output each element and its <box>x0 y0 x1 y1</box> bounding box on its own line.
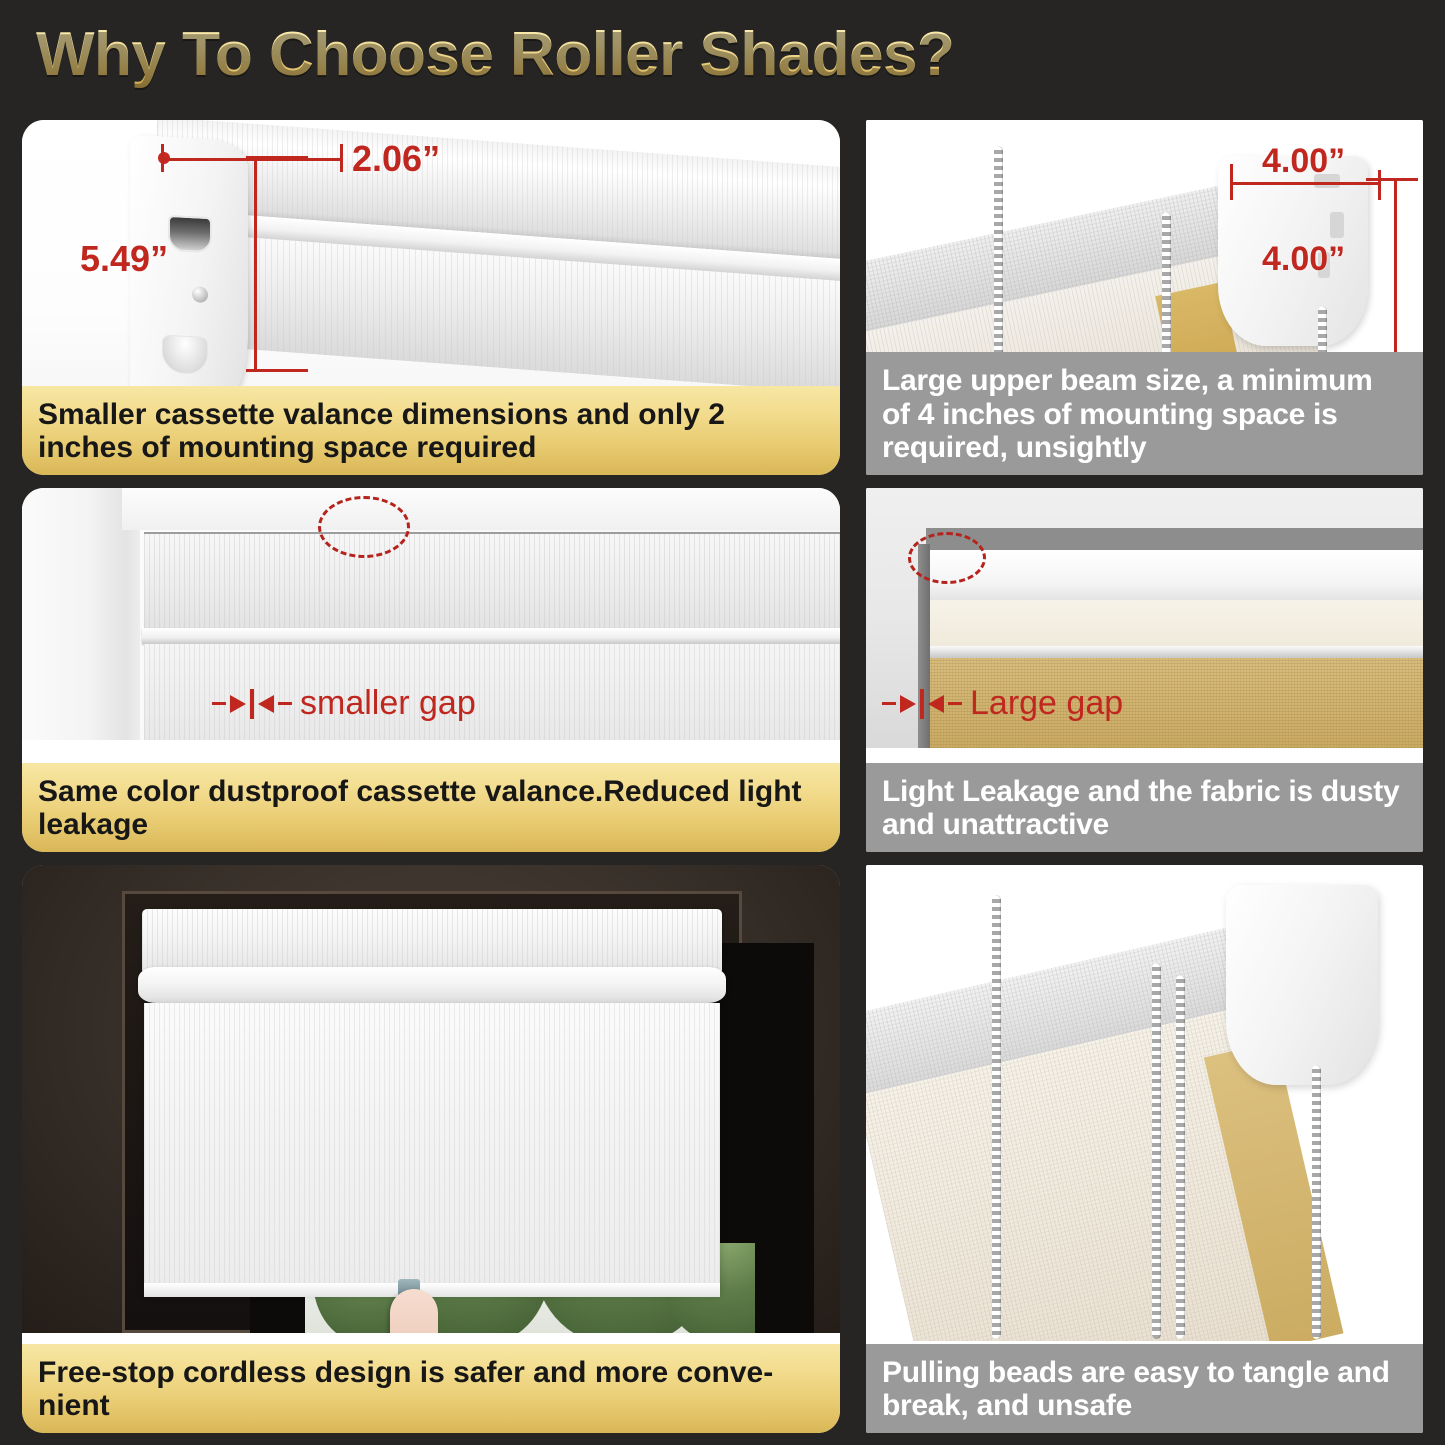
height-dimension-label: 5.49” <box>80 238 168 280</box>
cassette-headrail <box>142 909 722 971</box>
shade-rail <box>926 646 1423 658</box>
beam-width-label: 4.00” <box>1262 142 1345 181</box>
panel-2-photo: 4.00” 4.00” <box>866 120 1423 382</box>
panel-4-caption: Light Leakage and the fabric is dusty an… <box>866 763 1423 852</box>
shade-fabric <box>144 1003 720 1291</box>
large-gap-label: Large gap <box>970 684 1123 723</box>
comparison-grid: 2.06” 5.49” Smaller cassette valance dim… <box>0 108 1445 1445</box>
headrail-lip <box>138 967 726 1003</box>
height-dimension-line <box>254 156 257 372</box>
height-dimension-tick-bottom <box>246 369 308 372</box>
panel-6-caption: Pulling beads are easy to tangle and bre… <box>866 1344 1423 1433</box>
cassette-valance-face <box>144 532 840 628</box>
panel-3-photo: smaller gap <box>22 488 840 740</box>
panel-con-large-beam[interactable]: 4.00” 4.00” Large upper beam size, a min… <box>866 120 1423 475</box>
mounting-bracket <box>1226 885 1378 1085</box>
height-dimension-tick-top <box>246 156 308 159</box>
shade-bottom-rail <box>144 1283 720 1297</box>
panel-3-caption: Same color dustproof cassette valance.Re… <box>22 763 840 852</box>
smaller-gap-label: smaller gap <box>300 684 476 723</box>
panel-5-photo <box>22 865 840 1333</box>
bead-chain-right <box>1312 1065 1321 1339</box>
beam-width-tick-right <box>1378 170 1381 200</box>
hand-illustration <box>390 1289 438 1333</box>
page-title: Why To Choose Roller Shades? <box>36 19 954 90</box>
panel-pro-dustproof-valance[interactable]: smaller gap Same color dustproof cassett… <box>22 488 840 852</box>
arrow-right-icon <box>900 695 916 713</box>
panel-2-caption: Large upper beam size, a minimum of 4 in… <box>866 352 1423 475</box>
window-frame <box>122 891 742 1333</box>
page-header: Why To Choose Roller Shades? <box>0 0 1445 108</box>
shade-cream-band <box>928 600 1423 652</box>
panel-pro-cordless-design[interactable]: Free-stop cordless design is safer and m… <box>22 865 840 1433</box>
bead-chain-mid <box>1152 963 1161 1339</box>
panel-con-bead-chains[interactable]: Pulling beads are easy to tangle and bre… <box>866 865 1423 1433</box>
width-dimension-label: 2.06” <box>352 138 440 180</box>
arrow-right-icon <box>230 695 246 713</box>
highlight-ellipse-icon <box>908 532 986 584</box>
beam-width-line <box>1232 182 1380 185</box>
panel-con-light-leakage[interactable]: Large gap Light Leakage and the fabric i… <box>866 488 1423 852</box>
panel-1-photo: 2.06” 5.49” <box>22 120 840 392</box>
width-dimension-tick-right <box>340 144 343 172</box>
arrow-left-icon <box>928 695 944 713</box>
beam-height-line <box>1394 178 1397 360</box>
valance-rail <box>142 628 840 644</box>
beam-height-tick-top <box>1366 178 1418 181</box>
panel-5-caption-text: Free-stop cordless design is safer and m… <box>38 1356 824 1423</box>
large-gap-callout: Large gap <box>882 684 1123 723</box>
highlight-ellipse-icon <box>318 496 410 558</box>
arrow-left-icon <box>258 695 274 713</box>
bead-chain-left <box>994 146 1003 382</box>
beam-height-label: 4.00” <box>1262 240 1345 279</box>
bead-chain-left <box>992 895 1001 1339</box>
panel-pro-valance-dimensions[interactable]: 2.06” 5.49” Smaller cassette valance dim… <box>22 120 840 475</box>
panel-6-photo <box>866 865 1423 1341</box>
window-frame-top <box>122 488 840 530</box>
width-dimension-tick-left <box>161 144 164 172</box>
beam-width-tick-left <box>1230 164 1233 200</box>
smaller-gap-callout: smaller gap <box>212 684 476 723</box>
bead-chain-mid-2 <box>1176 975 1185 1339</box>
panel-4-photo: Large gap <box>866 488 1423 748</box>
panel-5-caption: Free-stop cordless design is safer and m… <box>22 1344 840 1433</box>
panel-1-caption: Smaller cassette valance dimensions and … <box>22 386 840 475</box>
